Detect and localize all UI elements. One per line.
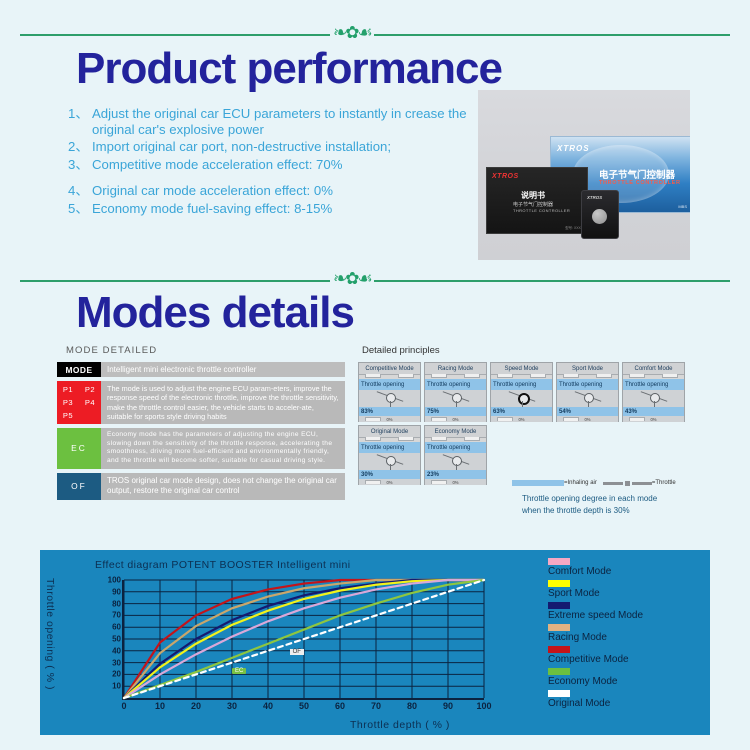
chart-x-axis-label: Throttle depth ( % ) [350,719,450,731]
principle-card-2: Racing ModeThrottle opening75%0% [424,362,487,422]
product-photo: XTROS 电子节气门控制器 THROTTLE CONTROLLER MBS X… [478,90,690,260]
card-port-left [497,374,513,378]
legend-swatch [548,690,570,697]
legend-swatch [548,580,570,587]
card-port-right [464,374,480,378]
chart-annotation-ec: EC [232,668,246,674]
table-row: EC Economy mode has the parameters of ad… [57,428,345,468]
section-rule-2 [20,280,730,282]
chart-y-tick: 10 [112,682,121,691]
card-port-right [464,437,480,441]
chart-plot-area: 1020304050607080901000102030405060708090… [122,580,484,700]
legend-air-label: =Inhaling air [564,480,597,486]
card-throttle-opening-label: Throttle opening [425,442,486,453]
card-port-bottom [497,417,513,421]
principle-card-5: Comfort ModeThrottle opening43%0% [622,362,685,422]
legend-throttle-label: =Throttle [652,480,676,486]
card-throttle-opening-label: Throttle opening [491,379,552,390]
mode-value-cell: Economy mode has the parameters of adjus… [101,428,345,468]
page-title: Product performance [76,44,502,94]
throttle-disc-icon [518,393,530,405]
card-port-right [530,374,546,378]
list-item: 2、 Import original car port, non-destruc… [68,139,468,155]
chart-legend-item-1: Comfort Mode [548,558,643,578]
chart-y-tick: 70 [112,611,121,620]
card-port-bottom [629,417,645,421]
list-item: 4、 Original car mode acceleration effect… [68,183,468,199]
list-item-number: 3、 [68,157,92,173]
legend-label: Original Mode [548,697,643,710]
list-item-number: 5、 [68,201,92,217]
chart-legend-item-7: Original Mode [548,690,643,710]
card-port-bottom [431,417,447,421]
card-percentage: 43% [623,407,684,416]
card-percentage: 54% [557,407,618,416]
chart-y-tick: 60 [112,623,121,632]
throttle-controller-device: XTROS [581,190,619,239]
box-brand-label: XTROS [557,144,590,153]
card-throttle-diagram [557,390,618,407]
card-throttle-diagram [623,390,684,407]
card-port-left [431,374,447,378]
manual-title-label: 说明书 [521,190,545,201]
mode-chip-p3: P3 [57,398,79,408]
chart-x-tick: 70 [371,701,381,711]
list-item: 5、 Economy mode fuel-saving effect: 8-15… [68,201,468,217]
chart-y-tick: 30 [112,658,121,667]
mode-table-caption: MODE DETAILED [66,345,157,356]
legend-swatch [548,558,570,565]
list-item-text: Economy mode fuel-saving effect: 8-15% [92,201,468,217]
card-percentage: 83% [359,407,420,416]
legend-label: Racing Mode [548,631,643,644]
mode-value-cell: TROS original car mode design, does not … [101,473,345,500]
mode-chip-p4: P4 [79,398,101,408]
chart-y-tick: 80 [112,599,121,608]
feature-list: 1、 Adjust the original car ECU parameter… [68,106,468,218]
card-port-left [365,374,381,378]
card-port-bottom [365,417,381,421]
principles-note-line1: Throttle opening degree in each mode [522,493,657,505]
card-throttle-opening-label: Throttle opening [359,379,420,390]
mode-key-cell: OF [57,473,101,500]
chart-legend-item-4: Racing Mode [548,624,643,644]
card-throttle-diagram [359,390,420,407]
principle-card-list: Competitive ModeThrottle opening83%0%Rac… [358,362,692,485]
card-port-right [398,374,414,378]
chart-x-tick: 10 [155,701,165,711]
mode-key-cell: MODE [57,362,101,377]
chart-x-tick: 100 [476,701,491,711]
mode-value-cell: Intelligent mini electronic throttle con… [101,362,345,377]
chart-x-tick: 20 [191,701,201,711]
legend-label: Extreme speed Mode [548,609,643,622]
principle-card-6: Original ModeThrottle opening30%0% [358,425,421,485]
card-throttle-opening-label: Throttle opening [359,442,420,453]
chart-y-tick: 20 [112,670,121,679]
chart-x-tick: 50 [299,701,309,711]
list-item-number: 1、 [68,106,92,137]
legend-row: =Inhaling air =Throttle [512,480,702,486]
chart-y-axis-label: Throttle opening ( % ) [44,578,56,690]
manual-brand-label: XTROS [492,173,519,180]
product-manual: XTROS 说明书 电子节气门控制器 THROTTLE CONTROLLER 型… [486,167,588,234]
list-item-text: Competitive mode acceleration effect: 70… [92,157,468,173]
chart-y-tick: 100 [108,576,121,585]
mode-key-cell: P1 P2 P3 P4 P5 [57,381,101,424]
principles-note-line2: when the throttle depth is 30% [522,505,657,517]
card-throttle-opening-label: Throttle opening [623,379,684,390]
principles-legend: =Inhaling air =Throttle [512,480,702,486]
legend-label: Sport Mode [548,587,643,600]
principle-card-7: Economy ModeThrottle opening23%0% [424,425,487,485]
list-item-number: 2、 [68,139,92,155]
principles-caption: Detailed principles [362,345,440,356]
list-item-text: Adjust the original car ECU parameters t… [92,106,468,137]
list-item: 3、 Competitive mode acceleration effect:… [68,157,468,173]
card-percentage: 23% [425,470,486,479]
chart-title: Effect diagram POTENT BOOSTER Intelligen… [95,559,351,571]
box-sku-label: MBS [678,204,687,209]
card-port-bottom [563,417,579,421]
principle-card-3: Speed ModeThrottle opening63%0% [490,362,553,422]
ornament-1: ❧✿☙ [330,24,374,41]
chart-y-tick: 40 [112,646,121,655]
table-row: P1 P2 P3 P4 P5 The mode is used to adjus… [57,381,345,424]
chart-legend: Comfort ModeSport ModeExtreme speed Mode… [548,558,643,712]
section-rule-1 [20,34,730,36]
legend-swatch [548,668,570,675]
card-port-left [563,374,579,378]
chart-y-tick: 50 [112,635,121,644]
table-row: OF TROS original car mode design, does n… [57,473,345,500]
chart-legend-item-2: Sport Mode [548,580,643,600]
chart-x-tick: 30 [227,701,237,711]
list-item-text: Original car mode acceleration effect: 0… [92,183,468,199]
chart-x-tick: 0 [121,701,126,711]
chart-y-tick: 90 [112,587,121,596]
principle-card-4: Sport ModeThrottle opening54%0% [556,362,619,422]
card-port-left [431,437,447,441]
chart-x-tick: 90 [443,701,453,711]
mode-value-cell: The mode is used to adjust the engine EC… [101,381,345,424]
card-port-bottom [365,480,381,484]
list-item-number: 4、 [68,183,92,199]
throttle-swatch [603,481,652,486]
card-port-left [365,437,381,441]
card-port-right [596,374,612,378]
mode-chip-p2: P2 [79,385,101,395]
section-title-modes: Modes details [76,288,354,338]
chart-legend-item-3: Extreme speed Mode [548,602,643,622]
legend-label: Economy Mode [548,675,643,688]
chart-legend-item-5: Competitive Mode [548,646,643,666]
mode-chip-p1: P1 [57,385,79,395]
card-percentage: 30% [359,470,420,479]
device-brand-label: XTROS [587,195,602,200]
principle-card-1: Competitive ModeThrottle opening83%0% [358,362,421,422]
mode-detail-table: MODE Intelligent mini electronic throttl… [57,362,345,504]
card-throttle-diagram [491,390,552,407]
chart-x-tick: 80 [407,701,417,711]
box-english-label: THROTTLE CONTROLLER [599,180,681,186]
ornament-2: ❧✿☙ [330,270,374,287]
card-port-right [398,437,414,441]
card-throttle-opening-label: Throttle opening [425,379,486,390]
table-row: MODE Intelligent mini electronic throttl… [57,362,345,377]
chart-annotation-of: OF [290,649,304,655]
device-knob [592,209,607,224]
box-chinese-label: 电子节气门控制器 [599,167,675,181]
card-throttle-opening-label: Throttle opening [557,379,618,390]
chart-x-tick: 60 [335,701,345,711]
chart-legend-item-6: Economy Mode [548,668,643,688]
product-page: ❧✿☙ Product performance 1、 Adjust the or… [0,0,750,750]
inhaling-air-swatch [512,480,564,486]
list-item-text: Import original car port, non-destructiv… [92,139,468,155]
chart-x-tick: 40 [263,701,273,711]
card-percentage: 63% [491,407,552,416]
legend-swatch [548,624,570,631]
legend-label: Comfort Mode [548,565,643,578]
manual-english-label: THROTTLE CONTROLLER [513,208,570,213]
card-port-left [629,374,645,378]
legend-swatch [548,602,570,609]
card-throttle-diagram [359,453,420,470]
card-port-right [662,374,678,378]
card-percentage: 75% [425,407,486,416]
manual-subtitle-label: 电子节气门控制器 [513,201,553,208]
mode-chip-p5: P5 [57,411,79,421]
card-throttle-diagram [425,453,486,470]
legend-label: Competitive Mode [548,653,643,666]
mode-key-cell: EC [57,428,101,468]
principles-note: Throttle opening degree in each mode whe… [522,493,657,517]
card-port-bottom [431,480,447,484]
list-item: 1、 Adjust the original car ECU parameter… [68,106,468,137]
card-throttle-diagram [425,390,486,407]
legend-swatch [548,646,570,653]
effect-diagram-chart: Effect diagram POTENT BOOSTER Intelligen… [40,550,710,735]
